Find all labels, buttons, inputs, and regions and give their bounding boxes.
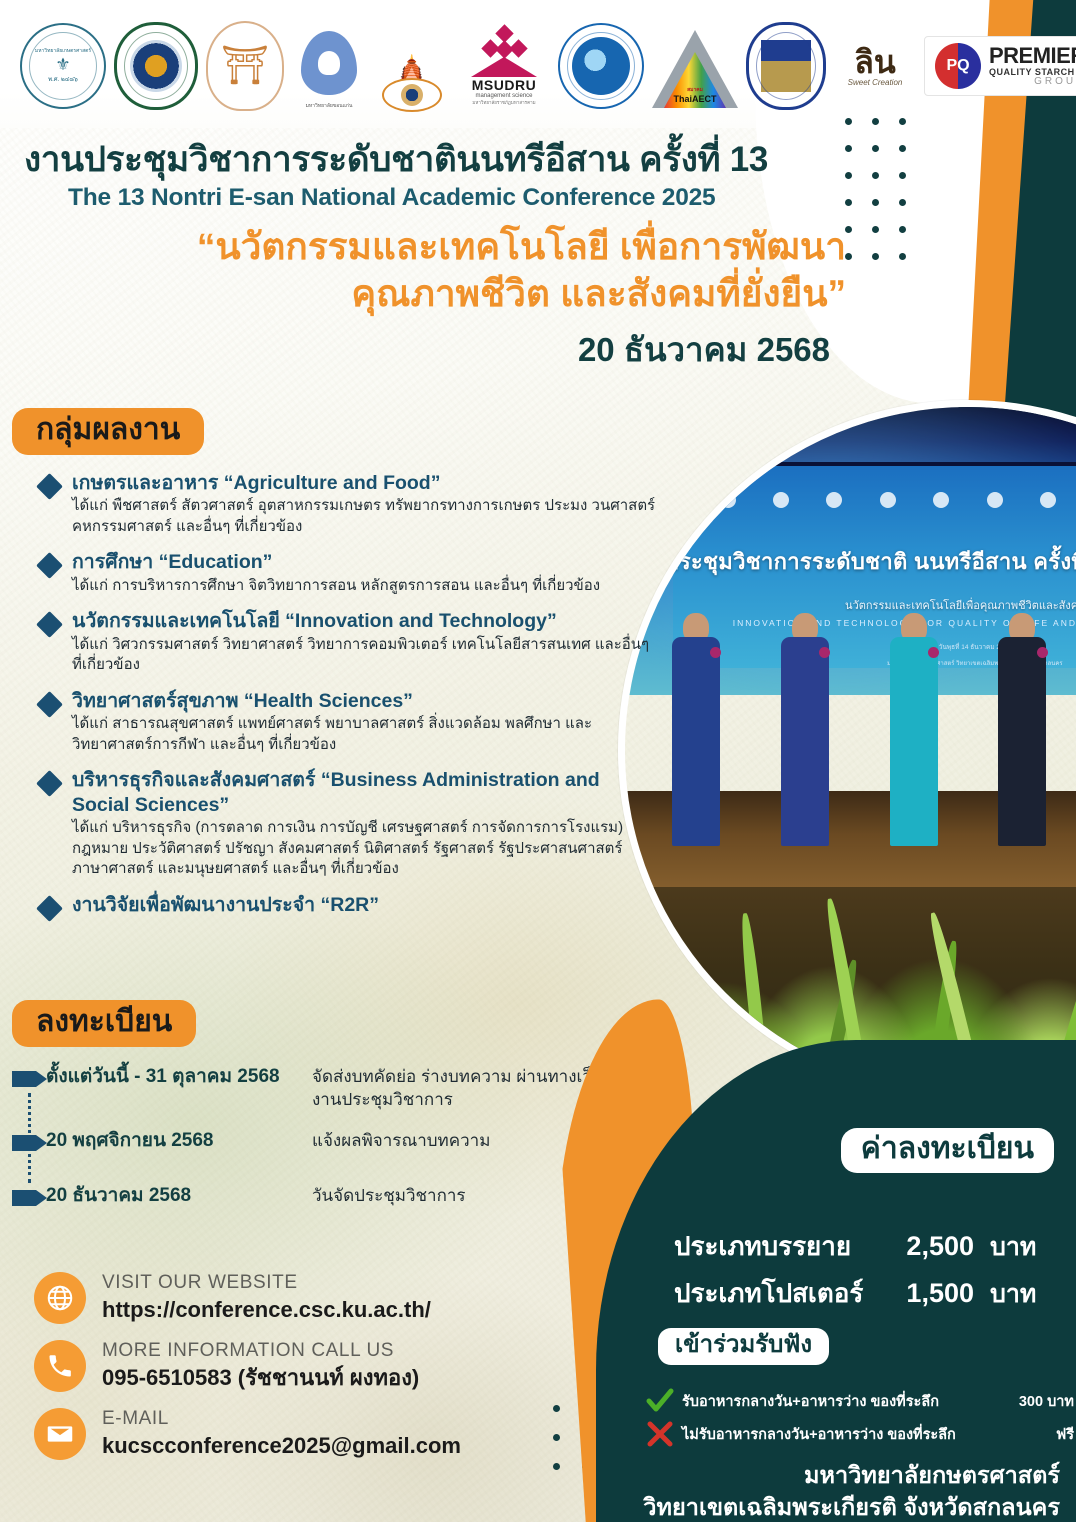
fee-type: ประเภทโปสเตอร์ [674, 1273, 870, 1314]
topic-detail: ได้แก่ พืชศาสตร์ สัตวศาสตร์ อุตสาหกรรมเก… [72, 496, 662, 537]
diamond-bullet-icon [36, 770, 63, 797]
phone-label: MORE INFORMATION CALL US [102, 1340, 419, 1363]
email-label: E-MAIL [102, 1408, 461, 1431]
baac-logo [746, 22, 826, 110]
fee-unit: บาท [974, 1227, 1036, 1267]
thaiaect-wordmark: ThaiAECT [673, 94, 716, 104]
contact-phone-row[interactable]: MORE INFORMATION CALL US 095-6510583 (รั… [34, 1340, 594, 1392]
title-block: งานประชุมวิชาการระดับชาตินนทรีอีสาน ครั้… [24, 140, 854, 376]
arrow-marker-icon [12, 1069, 48, 1089]
contact-website-row[interactable]: VISIT OUR WEBSITE https://conference.csc… [34, 1272, 594, 1324]
topic-item: การศึกษา “Education” ได้แก่ การบริหารการ… [40, 550, 662, 596]
conference-date: 20 ธันวาคม 2568 [24, 323, 854, 376]
timeline-description: วันจัดประชุมวิชาการ [312, 1184, 466, 1207]
phone-icon [34, 1340, 86, 1392]
conference-title-english: The 13 Nontri E-san National Academic Co… [24, 184, 854, 212]
thaiaect-thai-caption: สมาคม [673, 86, 716, 94]
royal-crest-logo: 🛕 [374, 20, 450, 112]
topic-item: งานวิจัยเพื่อพัฒนางานประจำ “R2R” [40, 893, 662, 918]
timeline-row: 20 ธันวาคม 2568 วันจัดประชุมวิชาการ [46, 1184, 652, 1209]
diamond-bullet-icon [36, 553, 63, 580]
msudru-logo: MSUDRU management science มหาวิทยาลัยราช… [458, 27, 550, 106]
envelope-icon [34, 1408, 86, 1460]
timeline-date: 20 พฤศจิกายน 2568 [46, 1129, 298, 1154]
topic-title: วิทยาศาสตร์สุขภาพ “Health Sciences” [72, 689, 662, 713]
fee-unit: บาท [974, 1274, 1036, 1314]
timeline-description: แจ้งผลพิจารณาบทความ [312, 1129, 490, 1152]
fee-row: ประเภทบรรยาย 2,500 บาท [674, 1226, 1062, 1267]
photo-banner-logo-strip [666, 482, 1076, 516]
registration-section: ลงทะเบียน ตั้งแต่วันนี้ - 31 ตุลาคม 2568… [12, 1000, 652, 1227]
conference-poster: มหาวิทยาลัยเกษตรศาสตร์ ⚜ พ.ศ. ๒๔๘๖ ⛩ [0, 0, 1076, 1522]
topic-detail: ได้แก่ การบริหารการศึกษา จิตวิทยาการสอน … [72, 576, 662, 597]
website-url[interactable]: https://conference.csc.ku.ac.th/ [102, 1296, 431, 1324]
attendance-options: รับอาหารกลางวัน+อาหารว่าง ของที่ระลึก 30… [646, 1388, 1074, 1454]
seal-year-caption: พ.ศ. ๒๔๘๖ [35, 77, 91, 84]
premier-wordmark: PREMIER [989, 44, 1076, 67]
topic-item: เกษตรและอาหาร “Agriculture and Food” ได้… [40, 471, 662, 537]
globe-icon [34, 1272, 86, 1324]
registration-timeline: ตั้งแต่วันนี้ - 31 ตุลาคม 2568 จัดส่งบทค… [12, 1065, 652, 1209]
lin-sweet-creation-logo: ลิน Sweet Creation [834, 26, 916, 106]
fee-amount: 2,500 [870, 1231, 974, 1262]
email-address[interactable]: kucscconference2025@gmail.com [102, 1432, 461, 1460]
attendance-option-text: ไม่รับอาหารกลางวัน+อาหารว่าง ของที่ระลึก [682, 1423, 1048, 1446]
photo-banner-subtitle-thai: นวัตกรรมและเทคโนโลยีเพื่อคุณภาพชีวิตและส… [694, 596, 1076, 614]
attendance-option-text: รับอาหารกลางวัน+อาหารว่าง ของที่ระลึก [682, 1390, 1011, 1413]
arrow-marker-icon [12, 1188, 48, 1208]
topic-detail: ได้แก่ วิศวกรรมศาสตร์ วิทยาศาสตร์ วิทยาก… [72, 635, 662, 676]
fee-row: ประเภทโปสเตอร์ 1,500 บาท [674, 1273, 1062, 1314]
topics-section: กลุ่มผลงาน เกษตรและอาหาร “Agriculture an… [12, 408, 662, 931]
topic-detail: ได้แก่ บริหารธุรกิจ (การตลาด การเงิน การ… [72, 818, 662, 880]
timeline-row: 20 พฤศจิกายน 2568 แจ้งผลพิจารณาบทความ [46, 1129, 652, 1154]
fee-amount: 1,500 [870, 1278, 974, 1309]
topic-item: นวัตกรรมและเทคโนโลยี “Innovation and Tec… [40, 609, 662, 675]
msudru-thai-subtitle: มหาวิทยาลัยราชภัฏมหาสารคาม [472, 99, 535, 106]
diamond-bullet-icon [36, 611, 63, 638]
attendance-option-price: ฟรี [1056, 1423, 1074, 1446]
conference-photo: รประชุมวิชาการระดับชาติ นนทรีอีสาน ครั้ง… [618, 400, 1076, 1100]
cross-icon [646, 1421, 674, 1447]
topic-title: การศึกษา “Education” [72, 550, 662, 574]
diamond-bullet-icon [36, 473, 63, 500]
check-icon [646, 1388, 674, 1414]
attendance-option-without-meal: ไม่รับอาหารกลางวัน+อาหารว่าง ของที่ระลึก… [646, 1421, 1074, 1447]
topic-item: บริหารธุรกิจและสังคมศาสตร์ “Business Adm… [40, 768, 662, 879]
topic-title: งานวิจัยเพื่อพัฒนางานประจำ “R2R” [72, 893, 662, 917]
droplet-university-logo: มหาวิทยาลัยขอนแก่น [292, 23, 366, 110]
attendance-option-with-meal: รับอาหารกลางวัน+อาหารว่าง ของที่ระลึก 30… [646, 1388, 1074, 1414]
topic-title: บริหารธุรกิจและสังคมศาสตร์ “Business Adm… [72, 768, 662, 817]
host-university: มหาวิทยาลัยกษตรศาสตร์ วิทยาเขตเฉลิมพระเก… [634, 1460, 1060, 1522]
timeline-date: ตั้งแต่วันนี้ - 31 ตุลาคม 2568 [46, 1065, 298, 1090]
topics-list: เกษตรและอาหาร “Agriculture and Food” ได้… [12, 471, 662, 918]
fee-type: ประเภทบรรยาย [674, 1226, 870, 1267]
nakhon-phanom-university-logo [558, 23, 644, 109]
attendance-option-price: 300 บาท [1019, 1390, 1074, 1413]
diamond-bullet-icon [36, 895, 63, 922]
psq-premier-logo: PQ PREMIER QUALITY STARCH GROUP [924, 36, 1076, 96]
fee-heading: ค่าลงทะเบียน [841, 1128, 1054, 1173]
droplet-logo-caption: มหาวิทยาลัยขอนแก่น [306, 104, 353, 110]
conference-title-thai: งานประชุมวิชาการระดับชาตินนทรีอีสาน ครั้… [24, 140, 854, 180]
msudru-wordmark: MSUDRU [472, 77, 536, 93]
sponsor-logo-row: มหาวิทยาลัยเกษตรศาสตร์ ⚜ พ.ศ. ๒๔๘๖ ⛩ [20, 14, 1060, 118]
dot-grid-decoration-top [845, 118, 906, 260]
lotus-seal-logo: ⛩ [206, 21, 284, 111]
rajabhat-seal-logo [114, 22, 198, 110]
registration-heading: ลงทะเบียน [12, 1000, 196, 1047]
thaiaect-logo: สมาคม ThaiAECT [652, 24, 738, 108]
conference-theme-line2: คุณภาพชีวิต และสังคมที่ยั่งยืน” [24, 271, 854, 317]
university-campus: วิทยาเขตเฉลิมพระเกียรติ จังหวัดสกลนคร [634, 1492, 1060, 1522]
conference-theme-line1: “นวัตกรรมและเทคโนโลยี เพื่อการพัฒนา [24, 224, 854, 270]
timeline-row: ตั้งแต่วันนี้ - 31 ตุลาคม 2568 จัดส่งบทค… [46, 1065, 652, 1111]
premier-group-label: GROUP [989, 77, 1076, 88]
phone-number[interactable]: 095-6510583 (รัชชานนท์ ผงทอง) [102, 1364, 419, 1392]
photo-banner-title: รประชุมวิชาการระดับชาติ นนทรีอีสาน ครั้ง… [652, 544, 1076, 579]
lin-tagline: Sweet Creation [848, 78, 903, 87]
photo-people-row [646, 613, 1076, 846]
topics-heading: กลุ่มผลงาน [12, 408, 204, 455]
website-label: VISIT OUR WEBSITE [102, 1272, 431, 1295]
topic-detail: ได้แก่ สาธารณสุขศาสตร์ แพทย์ศาสตร์ พยาบา… [72, 714, 662, 755]
attendance-heading: เข้าร่วมรับฟัง [658, 1328, 829, 1365]
contact-section: VISIT OUR WEBSITE https://conference.csc… [34, 1272, 594, 1476]
topic-item: วิทยาศาสตร์สุขภาพ “Health Sciences” ได้แ… [40, 689, 662, 755]
fee-rows: ประเภทบรรยาย 2,500 บาท ประเภทโปสเตอร์ 1,… [674, 1226, 1062, 1320]
lin-wordmark: ลิน [854, 46, 895, 78]
topic-title: เกษตรและอาหาร “Agriculture and Food” [72, 471, 662, 495]
fee-section: ค่าลงทะเบียน ประเภทบรรยาย 2,500 บาท ประเ… [616, 1040, 1076, 1522]
kasetsart-university-seal-logo: มหาวิทยาลัยเกษตรศาสตร์ ⚜ พ.ศ. ๒๔๘๖ [20, 23, 106, 109]
diamond-bullet-icon [36, 691, 63, 718]
arrow-marker-icon [12, 1133, 48, 1153]
university-name: มหาวิทยาลัยกษตรศาสตร์ [634, 1460, 1060, 1492]
timeline-date: 20 ธันวาคม 2568 [46, 1184, 298, 1209]
topic-title: นวัตกรรมและเทคโนโลยี “Innovation and Tec… [72, 609, 662, 633]
contact-email-row[interactable]: E-MAIL kucscconference2025@gmail.com [34, 1408, 594, 1460]
